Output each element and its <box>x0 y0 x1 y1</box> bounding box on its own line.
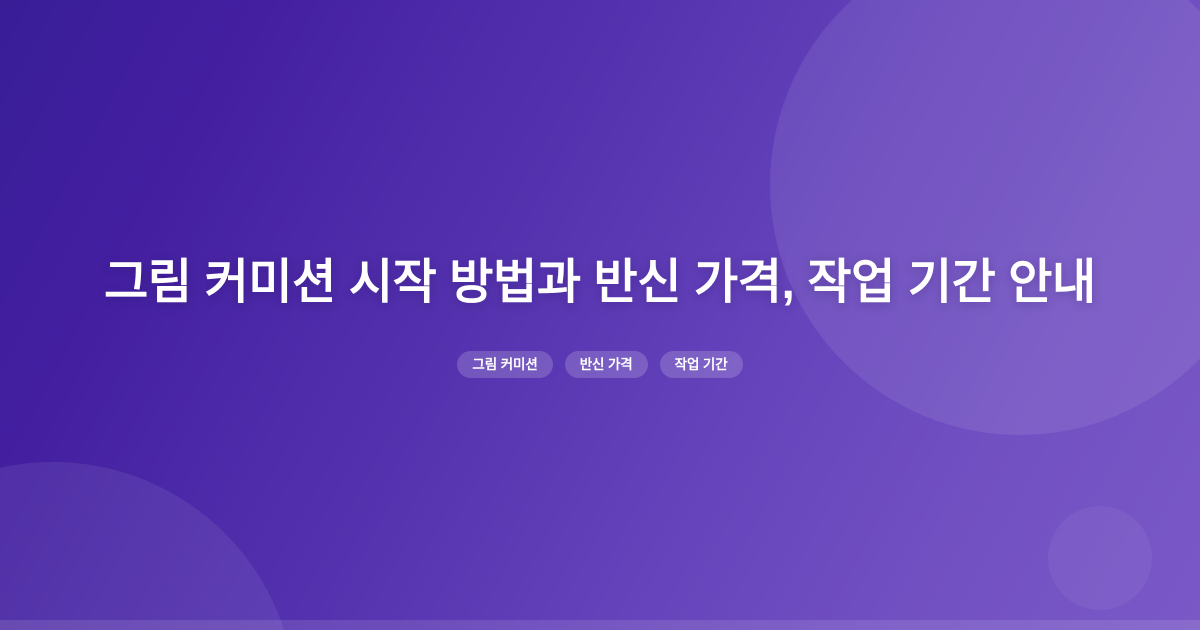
page-title-line-2: 안내 <box>1008 256 1096 309</box>
page-title-line-1: 그림 커미션 시작 방법과 반신 가격, 작업 기간 <box>104 256 995 309</box>
tag-item-3[interactable]: 작업 기간 <box>660 351 743 378</box>
card-content: 그림 커미션 시작 방법과 반신 가격, 작업 기간 안내 그림 커미션 반신 … <box>0 0 1200 630</box>
tag-list: 그림 커미션 반신 가격 작업 기간 <box>457 351 742 378</box>
page-title: 그림 커미션 시작 방법과 반신 가격, 작업 기간 안내 <box>95 252 1105 314</box>
tag-item-1[interactable]: 그림 커미션 <box>457 351 552 378</box>
og-card: 그림 커미션 시작 방법과 반신 가격, 작업 기간 안내 그림 커미션 반신 … <box>0 0 1200 630</box>
tag-item-2[interactable]: 반신 가격 <box>565 351 648 378</box>
